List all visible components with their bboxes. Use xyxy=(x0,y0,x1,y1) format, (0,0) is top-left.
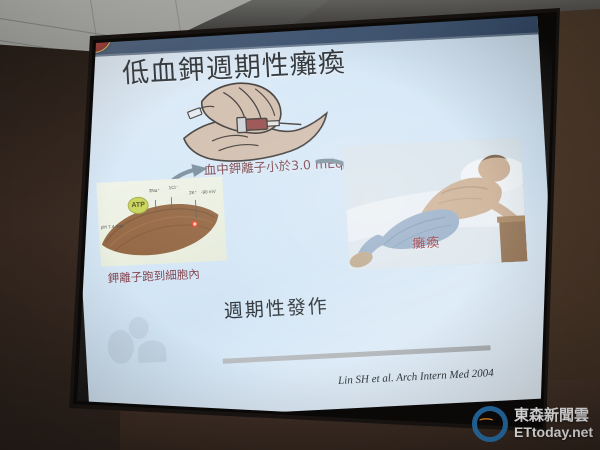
watermark-english-text: ETtoday.net xyxy=(514,424,593,440)
cell-annotation-k: 2K⁺ xyxy=(189,190,197,196)
ettoday-watermark: ⁀ 東森新聞雲 ETtoday.net xyxy=(468,400,596,448)
cell-diagram-caption: 鉀離子跑到細胞內 xyxy=(107,266,200,287)
decor-bubble-3 xyxy=(137,340,166,363)
paralysis-label: 癱瘓 xyxy=(412,232,441,252)
projected-slide: 三軍總醫院 ⚕ 三軍總醫院 Tri-Service General Hospit… xyxy=(60,8,562,440)
cell-annotation-na: 3Na⁺ xyxy=(149,188,160,195)
watermark-chinese-text: 東森新聞雲 xyxy=(514,404,589,425)
cell-annotation-cl: 1Cl⁻ xyxy=(169,185,179,191)
slide-divider-rule xyxy=(223,345,491,364)
cyclic-attack-text: 週期性發作 xyxy=(223,291,329,323)
citation-text: Lin SH et al. Arch Intern Med 2004 xyxy=(338,367,494,387)
cell-annotation-voltage: -90 mV xyxy=(201,189,216,195)
ettoday-fox-icon: ⁀ xyxy=(480,420,492,435)
decor-bubble-2 xyxy=(128,316,149,339)
muscle-cell-diagram: ATP 3Na⁺ 1Cl⁻ 2K⁺ -90 mV pH 7.4 mM xyxy=(96,177,227,267)
